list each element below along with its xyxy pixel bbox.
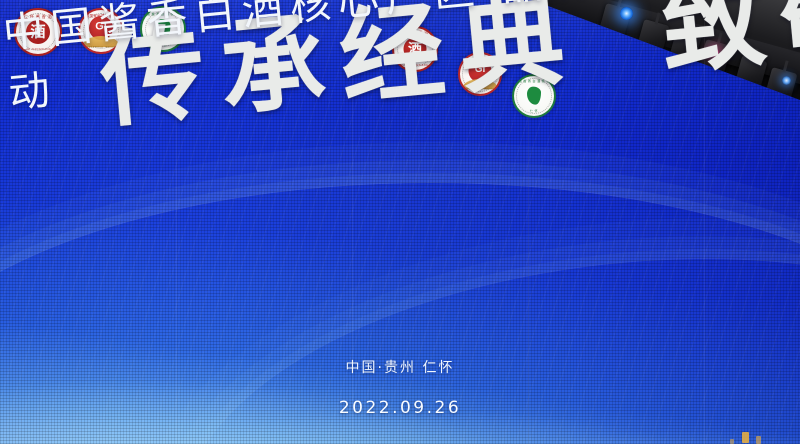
stage-photo: 仁 怀 酱 香 酒 酒 RENHUAI JIANGXIANG LIQUOR 中国… (0, 0, 800, 444)
backdrop-date: 2022.09.26 (0, 398, 800, 418)
floor-reflection-speck (742, 432, 749, 443)
backdrop-location: 中国·贵州 仁怀 (0, 357, 800, 377)
seal-arc-bottom-text: 仁 怀 (514, 109, 554, 113)
floor-reflection-speck (730, 439, 734, 444)
floor-reflection-speck (756, 436, 761, 444)
